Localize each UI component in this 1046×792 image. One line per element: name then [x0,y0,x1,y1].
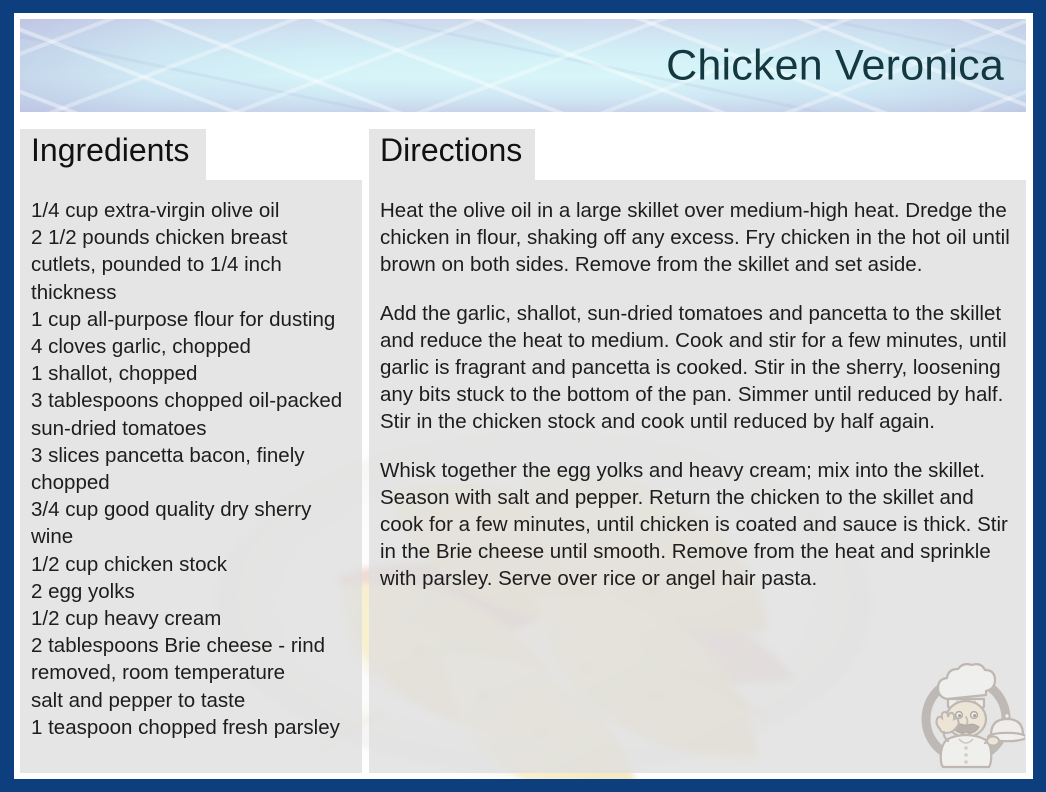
list-item: 1/4 cup extra-virgin olive oil [31,197,352,224]
list-item: 1/2 cup heavy cream [31,605,352,632]
directions-paragraph: Whisk together the egg yolks and heavy c… [380,457,1016,593]
list-item: 3 slices pancetta bacon, finely chopped [31,442,352,496]
list-item: 1 teaspoon chopped fresh parsley [31,714,352,741]
directions-paragraph: Heat the olive oil in a large skillet ov… [380,197,1016,279]
page-title: Chicken Veronica [666,41,1004,90]
list-item: 3 tablespoons chopped oil-packed sun-dri… [31,387,352,441]
directions-heading: Directions [380,132,522,169]
list-item: salt and pepper to taste [31,687,352,714]
header-banner: Chicken Veronica [20,19,1026,112]
recipe-card-page: Chicken Veronica [14,13,1033,779]
list-item: 1 cup all-purpose flour for dusting [31,306,352,333]
directions-paragraph: Add the garlic, shallot, sun-dried tomat… [380,300,1016,436]
recipe-card-frame: Chicken Veronica [0,0,1046,792]
recipe-columns: Ingredients 1/4 cup extra-virgin olive o… [20,129,1026,773]
list-item: 2 tablespoons Brie cheese - rind removed… [31,632,352,686]
ingredients-content: 1/4 cup extra-virgin olive oil 2 1/2 pou… [31,197,352,741]
list-item: 1 shallot, chopped [31,360,352,387]
ingredients-heading: Ingredients [31,132,189,169]
ingredients-section: Ingredients 1/4 cup extra-virgin olive o… [20,129,362,773]
directions-paragraph-list: Heat the olive oil in a large skillet ov… [380,197,1016,593]
list-item: 2 1/2 pounds chicken breast cutlets, pou… [31,224,352,306]
list-item: 3/4 cup good quality dry sherry wine [31,496,352,550]
list-item: 2 egg yolks [31,578,352,605]
directions-content: Heat the olive oil in a large skillet ov… [380,197,1016,593]
ingredient-list: 1/4 cup extra-virgin olive oil 2 1/2 pou… [31,197,352,741]
directions-section: Directions Heat the olive oil in a large… [369,129,1026,773]
list-item: 4 cloves garlic, chopped [31,333,352,360]
list-item: 1/2 cup chicken stock [31,551,352,578]
